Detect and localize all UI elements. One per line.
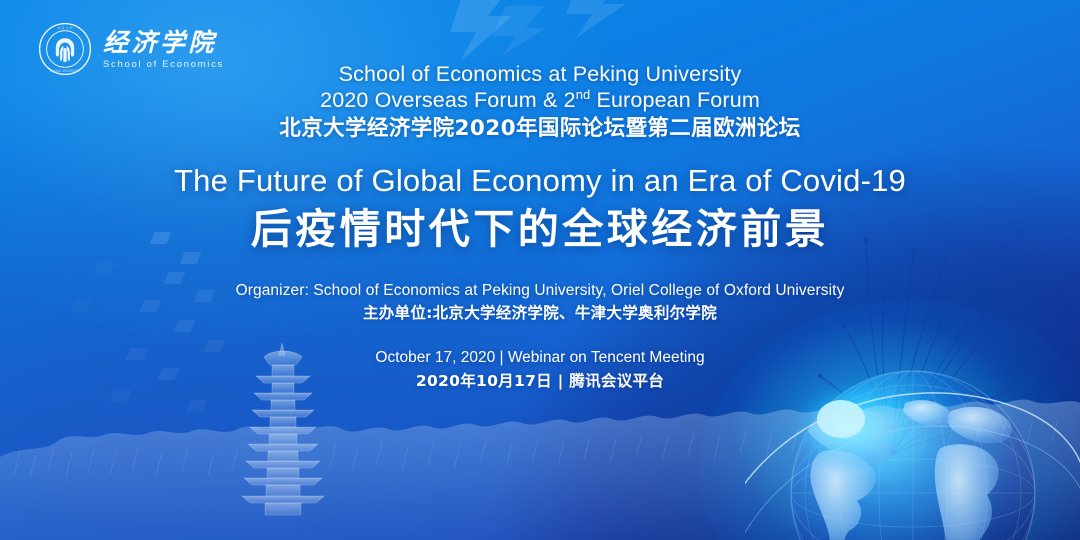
title-block: The Future of Global Economy in an Era o…: [174, 162, 906, 255]
datetime-en: October 17, 2020 | Webinar on Tencent Me…: [375, 348, 704, 368]
organizer-block: Organizer: School of Economics at Peking…: [236, 281, 845, 324]
header-line2-en: 2020 Overseas Forum & 2nd European Forum: [279, 88, 800, 114]
page-title-cn: 后疫情时代下的全球经济前景: [174, 203, 906, 255]
page-title-en: The Future of Global Economy in an Era o…: [174, 162, 906, 200]
header-line1-en: School of Economics at Peking University: [279, 62, 800, 88]
organizer-cn: 主办单位:北京大学经济学院、牛津大学奥利尔学院: [236, 302, 845, 324]
header-block: School of Economics at Peking University…: [279, 62, 800, 142]
datetime-cn: 2020年10月17日 | 腾讯会议平台: [375, 370, 704, 392]
header-ordinal-suffix: nd: [576, 86, 591, 101]
organizer-en: Organizer: School of Economics at Peking…: [236, 281, 845, 301]
header-line2-post: European Forum: [590, 88, 760, 112]
header-line2-pre: 2020 Overseas Forum & 2: [320, 88, 576, 112]
poster-content: School of Economics at Peking University…: [0, 0, 1080, 540]
conference-poster: 北 京 大 学 PEKING UNIVERSITY 经济学院 School of…: [0, 0, 1080, 540]
header-line3-cn: 北京大学经济学院2020年国际论坛暨第二届欧洲论坛: [279, 115, 800, 142]
datetime-block: October 17, 2020 | Webinar on Tencent Me…: [375, 348, 704, 392]
